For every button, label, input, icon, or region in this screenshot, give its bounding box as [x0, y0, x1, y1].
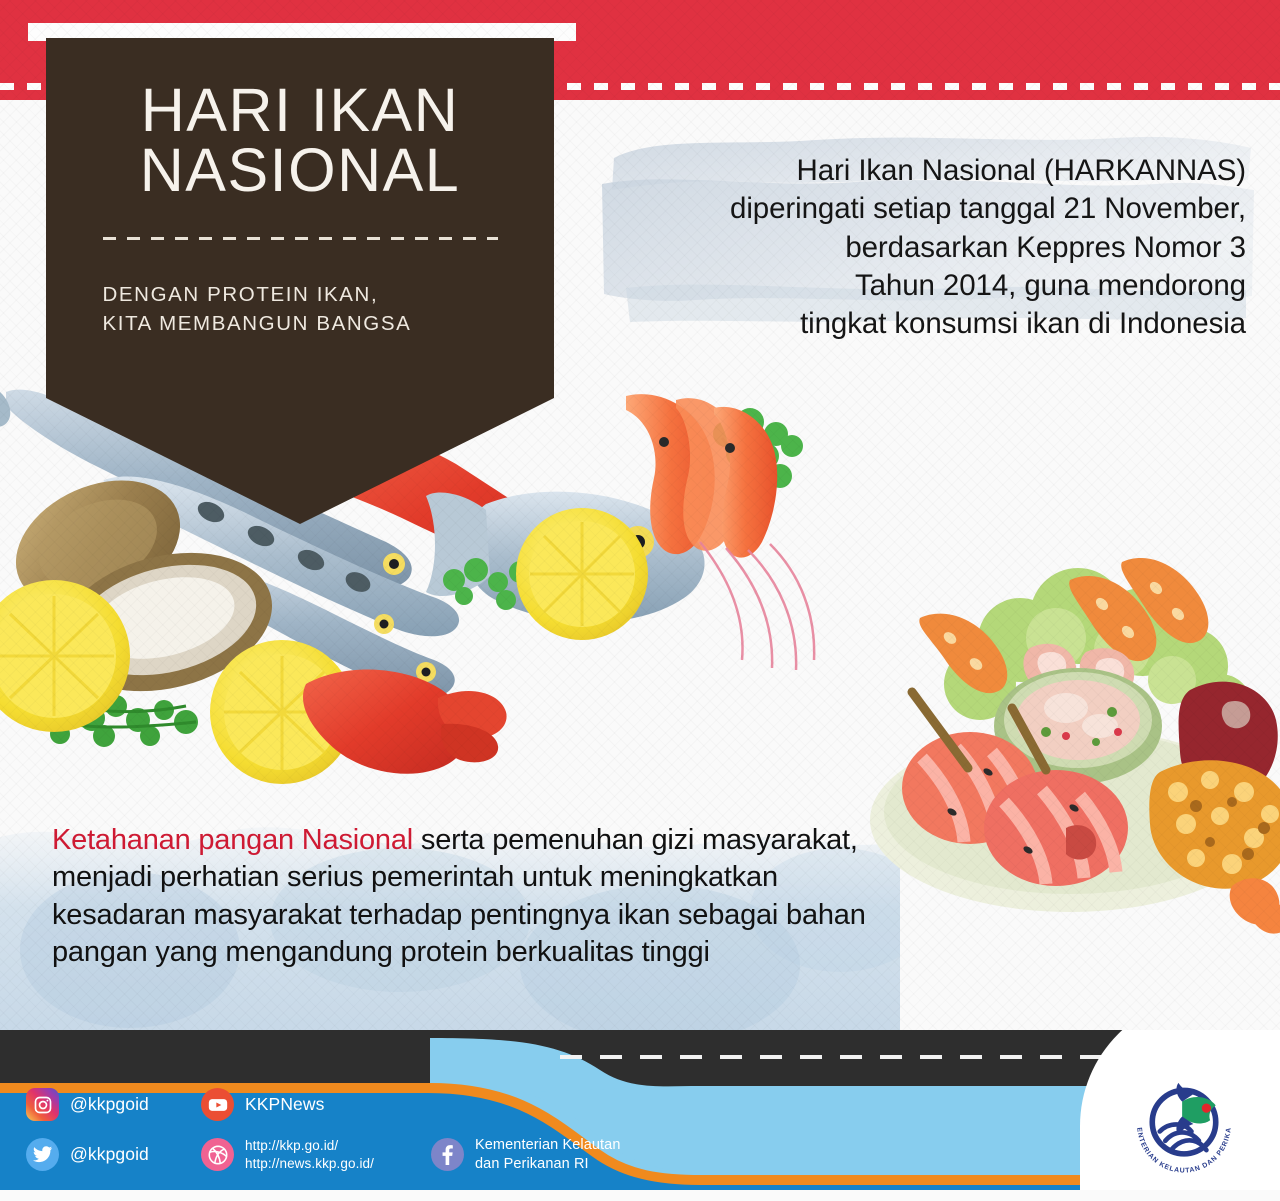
- body-highlight: Ketahanan pangan Nasional: [52, 824, 413, 856]
- social-instagram[interactable]: @kkpgoid: [26, 1088, 201, 1121]
- twitter-icon: [26, 1138, 59, 1171]
- social-twitter[interactable]: @kkpgoid: [26, 1138, 201, 1171]
- page-title: HARI IKAN NASIONAL: [140, 80, 461, 201]
- instagram-handle: @kkpgoid: [70, 1094, 149, 1115]
- seafood-platter-right: [860, 520, 1280, 940]
- title-subtitle: DENGAN PROTEIN IKAN, KITA MEMBANGUN BANG…: [103, 280, 498, 339]
- facebook-line-2: dan Perikanan RI: [475, 1155, 621, 1174]
- facebook-line-1: Kementerian Kelautan: [475, 1136, 621, 1155]
- social-row-1: @kkpgoid KKPNews: [26, 1088, 621, 1121]
- body-paragraph: Ketahanan pangan Nasional serta pemenuha…: [52, 822, 882, 971]
- youtube-channel: KKPNews: [245, 1094, 324, 1115]
- website-urls: http://kkp.go.id/ http://news.kkp.go.id/: [245, 1137, 374, 1172]
- social-facebook[interactable]: Kementerian Kelautan dan Perikanan RI: [431, 1136, 621, 1174]
- twitter-handle: @kkpgoid: [70, 1144, 149, 1165]
- youtube-icon: [201, 1088, 234, 1121]
- title-banner: HARI IKAN NASIONAL DENGAN PROTEIN IKAN, …: [46, 38, 554, 524]
- header-line-1: Hari Ikan Nasional (HARKANNAS): [606, 152, 1246, 190]
- facebook-page: Kementerian Kelautan dan Perikanan RI: [475, 1136, 621, 1174]
- footer: @kkpgoid KKPNews: [0, 1030, 1280, 1201]
- kkp-logo: KEMENTERIAN KELAUTAN DAN PERIKANAN: [1128, 1068, 1240, 1180]
- title-line-1: HARI IKAN: [140, 80, 461, 140]
- title-divider: [103, 237, 498, 240]
- website-url-2: http://news.kkp.go.id/: [245, 1155, 374, 1173]
- header-line-4: Tahun 2014, guna mendorong: [606, 267, 1246, 305]
- header-line-2: diperingati setiap tanggal 21 November,: [606, 190, 1246, 228]
- title-line-2: NASIONAL: [140, 140, 461, 200]
- social-row-2: @kkpgoid http://kkp.go.id/ http://news.: [26, 1136, 621, 1174]
- kkp-logo-panel: KEMENTERIAN KELAUTAN DAN PERIKANAN: [1080, 1030, 1280, 1201]
- bottom-edge-strip: [0, 1190, 1280, 1201]
- poster-root: Hari Ikan Nasional (HARKANNAS) diperinga…: [0, 0, 1280, 1201]
- website-url-1: http://kkp.go.id/: [245, 1137, 374, 1155]
- website-icon: [201, 1138, 234, 1171]
- header-description: Hari Ikan Nasional (HARKANNAS) diperinga…: [606, 152, 1246, 344]
- social-website[interactable]: http://kkp.go.id/ http://news.kkp.go.id/: [201, 1137, 431, 1172]
- header-line-3: berdasarkan Keppres Nomor 3: [606, 229, 1246, 267]
- footer-social-links: @kkpgoid KKPNews: [26, 1088, 621, 1189]
- social-youtube[interactable]: KKPNews: [201, 1088, 431, 1121]
- facebook-icon: [431, 1138, 464, 1171]
- subtitle-line-2: KITA MEMBANGUN BANGSA: [103, 309, 498, 339]
- header-line-5: tingkat konsumsi ikan di Indonesia: [606, 305, 1246, 343]
- subtitle-line-1: DENGAN PROTEIN IKAN,: [103, 280, 498, 310]
- instagram-icon: [26, 1088, 59, 1121]
